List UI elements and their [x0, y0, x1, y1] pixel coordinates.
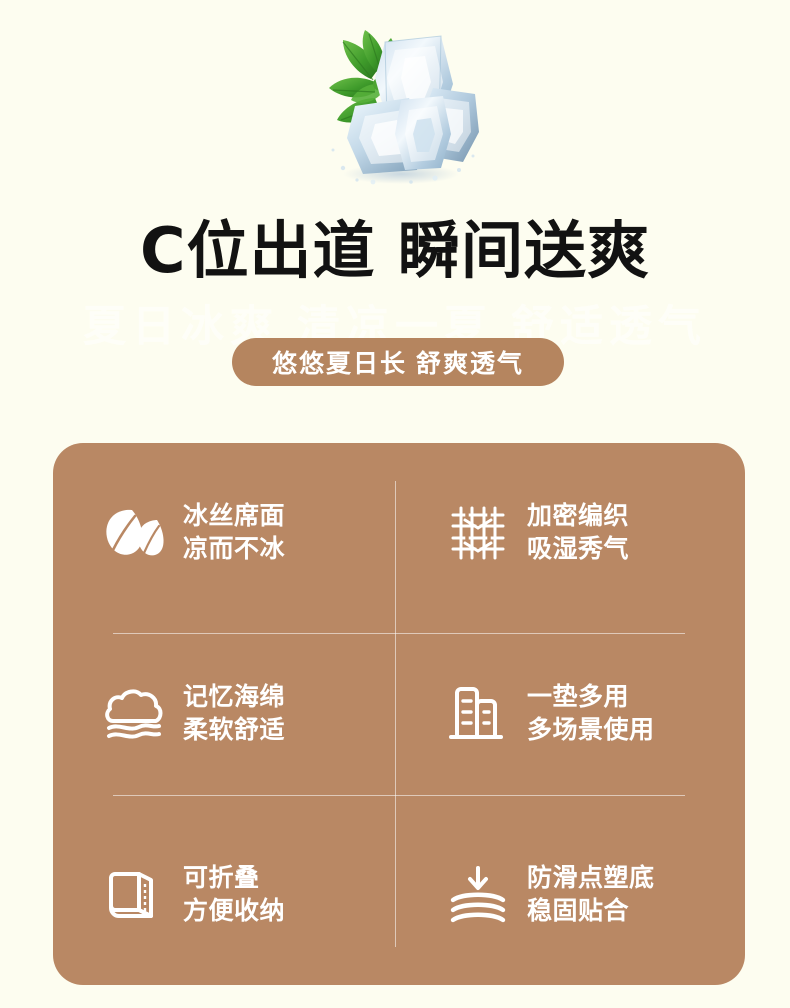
feature-item-dense-weave: 加密编织 吸湿秀气 [399, 443, 745, 624]
subtitle-badge: 悠悠夏日长 舒爽透气 [232, 338, 564, 386]
grid-divider-vertical [395, 481, 396, 947]
feature-line-1: 记忆海绵 [183, 681, 285, 714]
feature-item-memory-foam: 记忆海绵 柔软舒适 [53, 624, 399, 805]
anti-slip-dots-icon [443, 860, 513, 930]
ice-cube-center [395, 96, 451, 170]
feature-grid: 冰丝席面 凉而不冰 [53, 443, 745, 985]
feature-line-2: 凉而不冰 [183, 533, 285, 566]
feature-line-2: 多场景使用 [527, 714, 655, 747]
feature-item-anti-slip-base: 防滑点塑底 稳固贴合 [399, 804, 745, 985]
feature-highlights-card: 冰丝席面 凉而不冰 [53, 443, 745, 985]
feature-line-1: 冰丝席面 [183, 500, 285, 533]
feature-label: 防滑点塑底 稳固贴合 [527, 862, 655, 928]
memory-foam-cloud-icon [99, 679, 169, 749]
feature-line-1: 加密编织 [527, 500, 629, 533]
feature-label: 加密编织 吸湿秀气 [527, 500, 629, 566]
feature-line-1: 一垫多用 [527, 681, 655, 714]
feature-line-2: 方便收纳 [183, 895, 285, 928]
feature-item-foldable-storage: 可折叠 方便收纳 [53, 804, 399, 985]
ice-cubes-with-mint-leaves-icon [313, 22, 488, 197]
foldable-mat-icon [99, 860, 169, 930]
feature-label: 可折叠 方便收纳 [183, 862, 285, 928]
feature-line-1: 可折叠 [183, 862, 285, 895]
page-title: C位出道 瞬间送爽 [0, 218, 790, 283]
feature-label: 一垫多用 多场景使用 [527, 681, 655, 747]
feature-line-2: 稳固贴合 [527, 895, 655, 928]
feature-line-2: 吸湿秀气 [527, 533, 629, 566]
product-detail-page: 夏日冰爽 清凉一夏 舒适透气 C位出道 瞬间送爽 悠悠夏日长 舒爽透气 冰丝席 [0, 0, 790, 1008]
feature-line-1: 防滑点塑底 [527, 862, 655, 895]
grid-divider-horizontal-2 [113, 795, 685, 796]
feature-item-multi-scene-use: 一垫多用 多场景使用 [399, 624, 745, 805]
feature-item-ice-silk-surface: 冰丝席面 凉而不冰 [53, 443, 399, 624]
grid-divider-horizontal-1 [113, 633, 685, 634]
feature-label: 冰丝席面 凉而不冰 [183, 500, 285, 566]
woven-fabric-icon [443, 498, 513, 568]
feature-line-2: 柔软舒适 [183, 714, 285, 747]
leaves-icon [99, 498, 169, 568]
feature-label: 记忆海绵 柔软舒适 [183, 681, 285, 747]
subtitle-badge-label: 悠悠夏日长 舒爽透气 [272, 344, 524, 380]
buildings-multi-scene-icon [443, 679, 513, 749]
